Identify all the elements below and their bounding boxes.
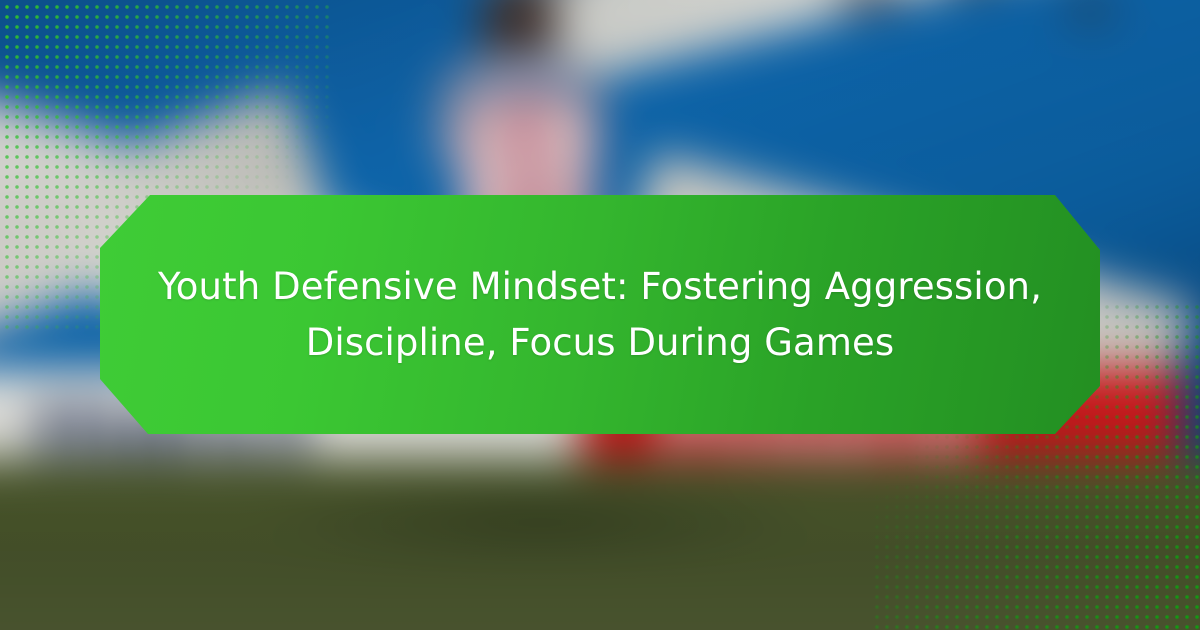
page-title: Youth Defensive Mindset: Fostering Aggre… [152, 259, 1048, 371]
title-banner: Youth Defensive Mindset: Fostering Aggre… [100, 195, 1100, 434]
og-image-card: Hidro3 Penarol Youth Defensive Mindset: … [0, 0, 1200, 630]
